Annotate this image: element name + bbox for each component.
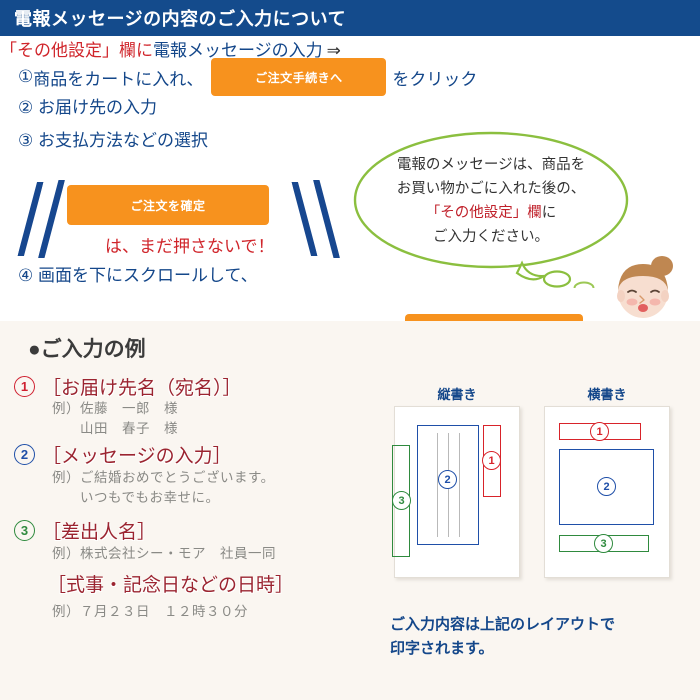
horizontal-badge-2: 2	[597, 477, 616, 496]
bubble-line-3-tail: に	[542, 205, 557, 221]
example-label-2: ［メッセージの入力］	[42, 446, 232, 467]
bubble-line-2: お買い物かごに入れた後の、	[352, 178, 630, 202]
slash-mark-right-1	[291, 182, 317, 256]
step-4-line1: 画面を下にスクロールして、	[38, 266, 258, 285]
example-item-1: 1［お届け先名（宛名）］	[14, 373, 242, 400]
warning-text: は、まだ押さないで！	[105, 232, 275, 257]
step-3-number: ③	[18, 131, 33, 150]
step-3-row: ③ お支払方法などの選択	[18, 126, 208, 151]
vertical-badge-2: 2	[438, 470, 457, 489]
step-4-row: ④ 画面を下にスクロールして、	[18, 261, 258, 286]
example-label-3: ［差出人名］	[42, 522, 156, 543]
step-1-text-before: 商品をカートに入れ、	[33, 65, 203, 90]
step-2-row: ② お届け先の入力	[18, 93, 157, 118]
example-sample-4: 例）７月２３日 １２時３０分	[52, 602, 248, 622]
vertical-layout-card: 2 1 3	[394, 406, 520, 578]
horizontal-layout-title: 横書き	[542, 384, 672, 403]
vertical-rule-3	[459, 433, 460, 537]
example-sample-3: 例）株式会社シー・モア 社員一同	[52, 544, 276, 564]
confirm-order-button-step4[interactable]: ご注文を確定	[405, 314, 583, 321]
layout-diagram: 縦書き 横書き 2 1 3 1 2 3	[386, 384, 686, 634]
horizontal-layout-card: 1 2 3	[544, 406, 670, 578]
slash-mark-left-1	[17, 182, 43, 256]
horizontal-badge-1: 1	[590, 422, 609, 441]
infographic-page: 電報メッセージの内容のご入力について ① 商品をカートに入れ、 ご注文手続きへ …	[0, 0, 700, 700]
example-sample-1: 例）佐藤 一郎 様 山田 春子 様	[52, 399, 178, 440]
bubble-line-1: 電報のメッセージは、商品を	[352, 154, 630, 178]
example-sample-2: 例）ご結婚おめでとうございます。 いつもでもお幸せに。	[52, 468, 275, 509]
vertical-layout-title: 縦書き	[392, 384, 522, 403]
horizontal-badge-3: 3	[594, 534, 613, 553]
examples-title: ●ご入力の例	[28, 333, 146, 363]
step-1-row: ① 商品をカートに入れ、 ご注文手続きへ をクリック	[18, 58, 477, 96]
confirm-order-button[interactable]: ご注文を確定	[67, 185, 269, 225]
step-1-number: ①	[18, 67, 33, 87]
vertical-badge-1: 1	[482, 451, 501, 470]
example-item-2: 2［メッセージの入力］	[14, 441, 232, 468]
instructions-section: ① 商品をカートに入れ、 ご注文手続きへ をクリック ② お届け先の入力 ③ お…	[0, 36, 700, 321]
thought-bubble-text: 電報のメッセージは、商品を お買い物かごに入れた後の、 「その他設定」欄に ご入…	[352, 154, 630, 250]
example-badge-1: 1	[14, 376, 35, 397]
step-3-text: お支払方法などの選択	[38, 131, 208, 150]
step-2-text: お届け先の入力	[38, 98, 157, 117]
vertical-rule-1	[437, 433, 438, 537]
vertical-badge-3: 3	[392, 491, 411, 510]
clerk-character-illustration	[596, 250, 690, 321]
examples-section: ●ご入力の例 1［お届け先名（宛名）］ 例）佐藤 一郎 様 山田 春子 様 2［…	[0, 321, 700, 700]
example-item-4: ［式事・記念日などの日時］	[47, 570, 294, 597]
example-label-1: ［お届け先名（宛名）］	[42, 378, 242, 399]
bubble-line-4: ご入力ください。	[352, 226, 630, 250]
bubble-line-3: 「その他設定」欄に	[352, 202, 630, 226]
example-item-3: 3［差出人名］	[14, 517, 156, 544]
slash-mark-left-2	[38, 180, 65, 258]
slash-mark-right-2	[313, 180, 340, 258]
page-title: 電報メッセージの内容のご入力について	[0, 5, 346, 31]
step-1-text-after: をクリック	[392, 65, 477, 90]
checkout-button[interactable]: ご注文手続きへ	[211, 58, 386, 96]
example-badge-3: 3	[14, 520, 35, 541]
step-2-number: ②	[18, 98, 33, 117]
example-label-4: ［式事・記念日などの日時］	[47, 575, 294, 596]
step-4-number: ④	[18, 266, 33, 285]
bubble-highlight: 「その他設定」欄	[426, 205, 542, 221]
diagram-caption: ご入力内容は上記のレイアウトで 印字されます。	[390, 613, 615, 661]
example-badge-2: 2	[14, 444, 35, 465]
page-header: 電報メッセージの内容のご入力について	[0, 0, 700, 36]
